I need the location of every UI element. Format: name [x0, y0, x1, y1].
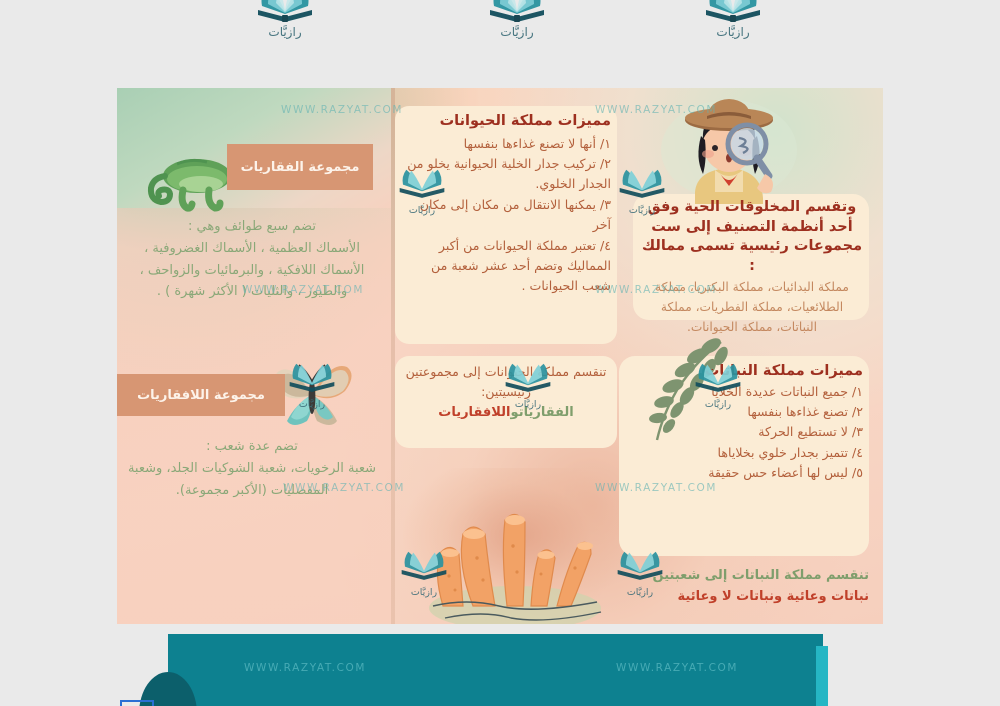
- open-book-icon: [704, 0, 762, 24]
- animal-feature-item: ٣/ يمكنها الانتقال من مكان إلى مكان آخر: [403, 195, 611, 236]
- plant-split-intro: تنقسم مملكة النباتات إلى شعبتين: [617, 566, 869, 587]
- animal-kingdom-split: تنقسم مملكة الحيوانات إلى مجموعتين رئيسي…: [403, 362, 609, 424]
- plant-kingdom-features: مميزات مملكة النباتات ١/ جميع النباتات ع…: [629, 362, 863, 484]
- animal-split-groups: الفقارياتواللافقاريات: [403, 403, 609, 424]
- vertebrate-classes-text: تضم سبع طوائف وهي : الأسماك العظمية ، ال…: [127, 216, 377, 303]
- vertebrates-label: الفقاريات: [519, 405, 574, 420]
- watermark-name: رازيَّات: [240, 25, 330, 39]
- top-watermark-strip: رازيَّات رازيَّات: [0, 0, 1000, 88]
- plants-features-title: مميزات مملكة النباتات: [629, 362, 863, 382]
- conjunction: و: [511, 405, 519, 420]
- watermark-logo-1: رازيَّات: [240, 0, 330, 39]
- vertebrate-group-label: مجموعة الفقاريات: [241, 160, 360, 175]
- animal-kingdom-features: مميزات مملكة الحيوانات ١/ أنها لا تصنع غ…: [403, 112, 611, 297]
- animal-split-intro: تنقسم مملكة الحيوانات إلى مجموعتين رئيسي…: [403, 362, 609, 403]
- animal-feature-item: ١/ أنها لا تصنع غذاءها بنفسها: [403, 134, 611, 154]
- girl-explorer-illustration: [645, 96, 813, 204]
- plant-feature-item: ٢/ تصنع غذاءها بنفسها: [629, 402, 863, 422]
- six-kingdoms-block: وتقسم المخلوقات الحية وفق أحد أنظمة التص…: [641, 198, 863, 338]
- invertebrate-phyla-text: تضم عدة شعب : شعبة الرخويات، شعبة الشوكي…: [127, 436, 377, 501]
- watermark-logo-2: رازيَّات: [472, 0, 562, 39]
- watermark-url: WWW.RAZYAT.COM: [244, 662, 366, 674]
- animal-feature-item: ٤/ تعتبر مملكة الحيوانات من أكبر الممالي…: [403, 236, 611, 297]
- invertebrate-group-banner[interactable]: مجموعة اللافقاريات: [117, 374, 285, 416]
- invertebrate-group-label: مجموعة اللافقاريات: [137, 388, 265, 403]
- bottom-square-outline: [120, 700, 154, 706]
- plant-feature-item: ٣/ لا تستطيع الحركة: [629, 422, 863, 442]
- plant-kingdom-split: تنقسم مملكة النباتات إلى شعبتين نباتات و…: [617, 566, 869, 608]
- plant-feature-item: ٤/ تتميز بجدار خلوي بخلاياها: [629, 443, 863, 463]
- bottom-teal-band: WWW.RAZYAT.COM WWW.RAZYAT.COM: [168, 634, 823, 706]
- orange-tube-sponge-illustration: [415, 476, 615, 624]
- vertebrate-group-banner[interactable]: مجموعة الفقاريات: [227, 144, 373, 190]
- invertebrates-label: اللافقاريات: [438, 405, 510, 420]
- animal-features-title: مميزات مملكة الحيوانات: [403, 112, 611, 132]
- open-book-icon: [488, 0, 546, 24]
- watermark-name: رازيَّات: [688, 25, 778, 39]
- kingdoms-title: وتقسم المخلوقات الحية وفق أحد أنظمة التص…: [641, 198, 863, 276]
- watermark-url: WWW.RAZYAT.COM: [616, 662, 738, 674]
- plant-split-types: نباتات وعائية ونباتات لا وعائية: [617, 587, 869, 608]
- bottom-accent-bar: [816, 646, 828, 706]
- watermark-name: رازيَّات: [472, 25, 562, 39]
- kingdoms-list: مملكة البدائيات، مملكة البكتريا، مملكة ا…: [641, 278, 863, 337]
- animal-feature-item: ٢/ تركيب جدار الخلية الحيوانية يخلو من ا…: [403, 154, 611, 195]
- plant-feature-item: ١/ جميع النباتات عديدة الخلايا: [629, 382, 863, 402]
- plant-feature-item: ٥/ ليس لها أعضاء حس حقيقة: [629, 463, 863, 483]
- infographic-card: مجموعة الفقاريات تضم سبع طوائف وهي : الأ…: [117, 88, 883, 624]
- open-book-icon: [256, 0, 314, 24]
- watermark-logo-3: رازيَّات: [688, 0, 778, 39]
